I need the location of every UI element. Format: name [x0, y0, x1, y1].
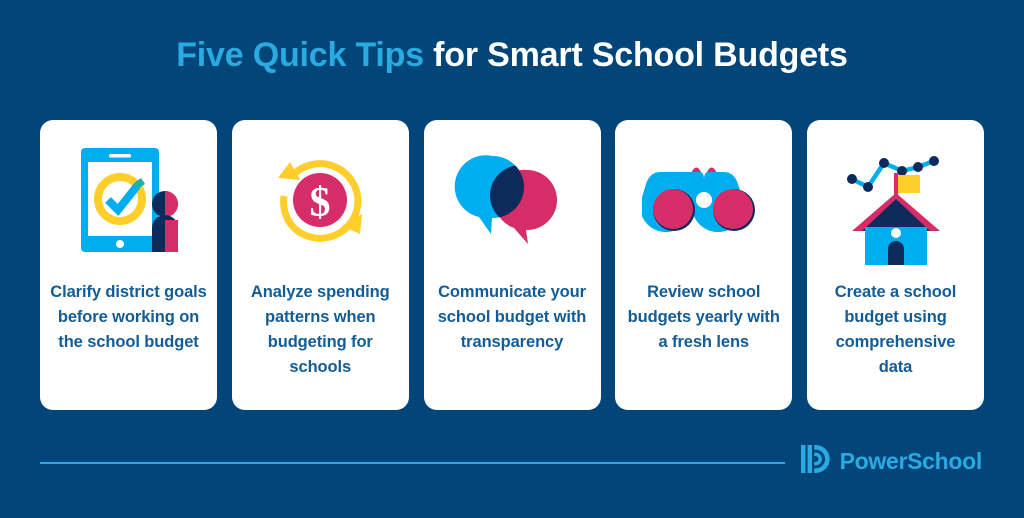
powerschool-brand-name: PowerSchool: [840, 450, 982, 473]
tip-card-2: $ Analyze spending patterns when budgeti…: [232, 120, 409, 410]
page-title-rest: for Smart School Budgets: [424, 36, 848, 74]
tips-card-row: Clarify district goals before working on…: [40, 120, 984, 410]
page-title-accent: Five Quick Tips: [176, 36, 424, 74]
tip-card-4-text: Review school budgets yearly with a fres…: [615, 280, 792, 355]
infographic-canvas: Five Quick Tips for Smart School Budgets: [0, 0, 1024, 518]
tip-card-4: Review school budgets yearly with a fres…: [615, 120, 792, 410]
tablet-checkmark-person-icon: [40, 120, 217, 280]
footer-divider: [40, 462, 785, 464]
tip-card-3-text: Communicate your school budget with tran…: [424, 280, 601, 355]
binoculars-icon: [615, 120, 792, 280]
page-title: Five Quick Tips for Smart School Budgets: [0, 33, 1024, 77]
tip-card-3: Communicate your school budget with tran…: [424, 120, 601, 410]
tip-card-1-text: Clarify district goals before working on…: [40, 280, 217, 355]
svg-text:$: $: [310, 180, 331, 226]
tip-card-5: Create a school budget using comprehensi…: [807, 120, 984, 410]
dollar-cycle-arrows-icon: $: [232, 120, 409, 280]
two-speech-bubbles-icon: [424, 120, 601, 280]
schoolhouse-line-chart-icon: [807, 120, 984, 280]
powerschool-logo-mark: [801, 443, 831, 480]
tip-card-5-text: Create a school budget using comprehensi…: [807, 280, 984, 380]
powerschool-brand-lockup: PowerSchool: [801, 443, 982, 479]
tip-card-1: Clarify district goals before working on…: [40, 120, 217, 410]
tip-card-2-text: Analyze spending patterns when budgeting…: [232, 280, 409, 380]
